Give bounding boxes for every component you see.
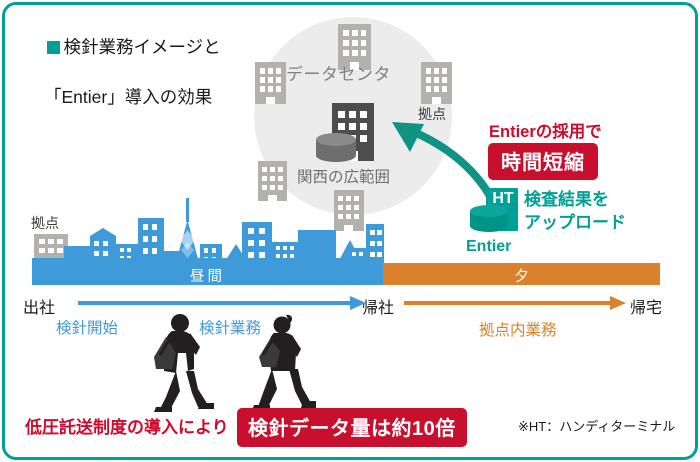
effect-headline: Entierの採用で <box>489 118 602 142</box>
entier-database-icon <box>470 205 508 233</box>
walking-people-silhouettes <box>120 313 335 413</box>
building-icon-left <box>255 62 286 104</box>
entier-label: Entier <box>466 238 511 256</box>
datacenter-label: データセンタ <box>286 60 391 85</box>
building-icon-bottom-left <box>258 161 287 201</box>
timeline-evening-label: 夕 <box>383 265 660 286</box>
time-reduction-badge: 時間短縮 <box>488 143 598 180</box>
upload-description: 検査結果を アップロード <box>524 188 626 234</box>
database-cylinder-icon <box>316 133 356 162</box>
building-icon-right <box>421 62 452 104</box>
footer-lead-text: 低圧託送制度の導入により <box>25 413 229 438</box>
timeline-arrow-evening <box>404 296 626 310</box>
city-skyline <box>32 196 384 266</box>
title-line-1: 検針業務イメージと <box>63 37 220 57</box>
footer-note: ※HT：ハンディターミナル <box>518 416 675 435</box>
footer-highlight-badge: 検針データ量は約10倍 <box>237 408 467 447</box>
timeline-end-label: 帰宅 <box>630 294 662 318</box>
phase-label-branch-work: 拠点内業務 <box>479 318 557 340</box>
timeline-arrow-day <box>78 296 366 310</box>
infographic-root: 検針業務イメージと 「Entier」導入の効果 <box>0 0 700 462</box>
timeline-day-label: 昼間 <box>32 265 383 286</box>
phase-label-meter-start: 検針開始 <box>56 316 118 338</box>
timeline-middle-label: 帰社 <box>362 294 394 318</box>
title-line-2: 「Entier」導入の効果 <box>44 85 221 110</box>
page-title: 検針業務イメージと 「Entier」導入の効果 <box>28 10 221 160</box>
bullet-square-icon <box>47 41 60 54</box>
timeline-start-label: 出社 <box>23 294 55 318</box>
